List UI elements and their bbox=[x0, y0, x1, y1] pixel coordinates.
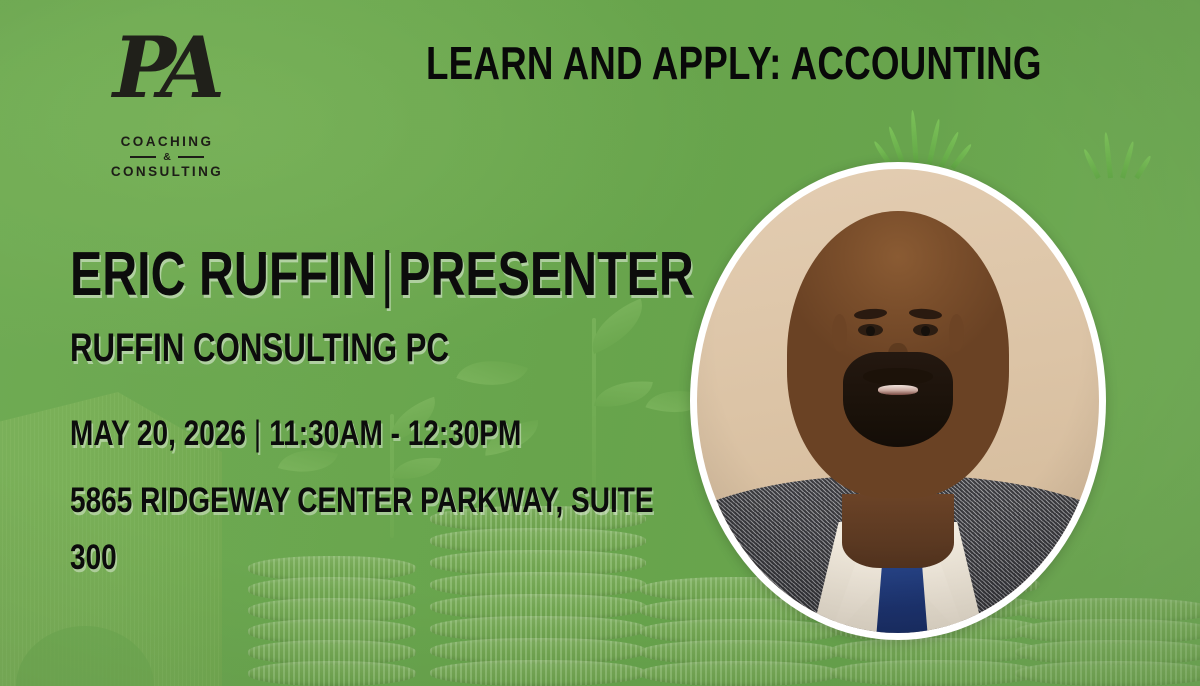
eyebrow-right bbox=[909, 307, 943, 320]
pupil-left bbox=[866, 326, 875, 336]
ear-right bbox=[949, 314, 964, 351]
pupil-right bbox=[921, 326, 930, 336]
presenter-portrait bbox=[690, 162, 1106, 640]
head bbox=[787, 211, 1008, 499]
event-datetime: MAY 20, 2026|11:30AM - 12:30PM bbox=[70, 416, 566, 451]
beard bbox=[843, 352, 954, 447]
datetime-separator: | bbox=[246, 414, 269, 453]
event-time: 11:30AM - 12:30PM bbox=[269, 414, 521, 453]
page-title: LEARN AND APPLY: ACCOUNTING bbox=[426, 40, 954, 86]
eyebrow-left bbox=[853, 307, 887, 320]
ear-left bbox=[832, 314, 847, 351]
neck bbox=[842, 494, 955, 568]
presenter-company: RUFFIN CONSULTING PC bbox=[70, 328, 554, 368]
presenter-name: ERIC RUFFIN bbox=[70, 240, 376, 309]
logo-rule-right bbox=[178, 156, 204, 158]
portrait-photo bbox=[697, 169, 1099, 633]
logo-coaching-text: COACHING bbox=[92, 134, 242, 150]
mustache bbox=[863, 368, 934, 385]
event-flyer: PA COACHING & CONSULTING LEARN AND APPLY… bbox=[0, 0, 1200, 686]
logo-rule-left bbox=[130, 156, 156, 158]
logo-monogram-pa: PA bbox=[92, 28, 242, 126]
mouth bbox=[878, 385, 918, 395]
logo-ampersand-row: & bbox=[92, 151, 242, 163]
logo-ampersand: & bbox=[163, 151, 171, 163]
logo-wordmark: COACHING & CONSULTING bbox=[92, 134, 242, 180]
event-address: 5865 RIDGEWAY CENTER PARKWAY, SUITE 300 bbox=[70, 473, 686, 586]
logo-consulting-text: CONSULTING bbox=[92, 164, 242, 180]
presenter-role: PRESENTER bbox=[398, 240, 694, 309]
presenter-separator: | bbox=[376, 240, 398, 309]
brand-logo: PA COACHING & CONSULTING bbox=[92, 28, 242, 180]
event-date: MAY 20, 2026 bbox=[70, 414, 246, 453]
event-details: ERIC RUFFIN|PRESENTER RUFFIN CONSULTING … bbox=[70, 244, 690, 586]
presenter-line: ERIC RUFFIN|PRESENTER bbox=[70, 244, 554, 306]
